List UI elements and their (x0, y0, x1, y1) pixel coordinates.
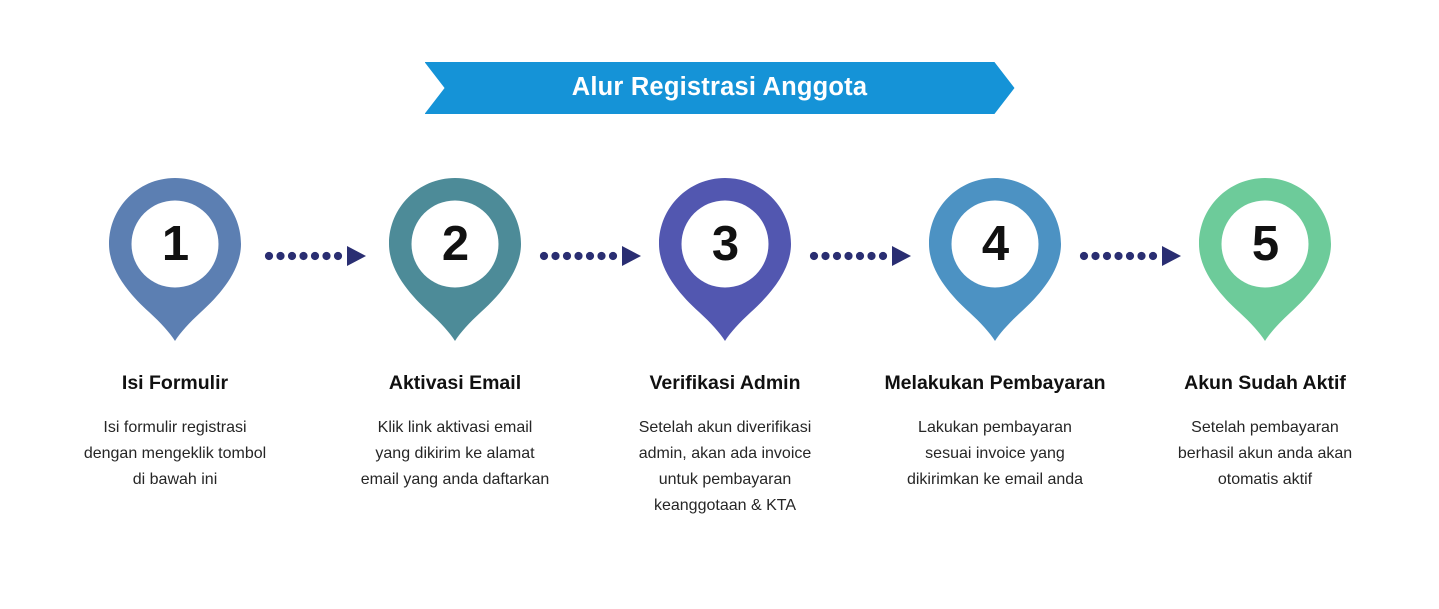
step-description-5: Setelah pembayaran berhasil akun anda ak… (1135, 415, 1395, 493)
connector-arrow-1-to-2 (263, 244, 367, 268)
step-flow-row: 12345 (0, 178, 1439, 353)
step-pin-1: 1 (109, 178, 241, 342)
step-title-2: Aktivasi Email (320, 372, 590, 394)
page-title: Alur Registrasi Anggota (572, 75, 868, 102)
step-caption-1: Isi FormulirIsi formulir registrasi deng… (40, 372, 310, 493)
step-pin-5: 5 (1199, 178, 1331, 342)
step-title-3: Verifikasi Admin (595, 372, 855, 394)
step-description-2: Klik link aktivasi email yang dikirim ke… (320, 415, 590, 493)
connector-arrow-3-to-4 (808, 244, 912, 268)
step-description-3: Setelah akun diverifikasi admin, akan ad… (595, 415, 855, 519)
step-caption-4: Melakukan PembayaranLakukan pembayaran s… (845, 372, 1145, 493)
step-pin-4: 4 (929, 178, 1061, 342)
step-title-1: Isi Formulir (40, 372, 310, 394)
step-pin-2: 2 (389, 178, 521, 342)
step-description-4: Lakukan pembayaran sesuai invoice yang d… (845, 415, 1145, 493)
step-number-2: 2 (389, 178, 521, 310)
flow-title-banner: Alur Registrasi Anggota (425, 62, 1015, 114)
step-number-5: 5 (1199, 178, 1331, 310)
step-caption-5: Akun Sudah AktifSetelah pembayaran berha… (1135, 372, 1395, 493)
step-captions-row: Isi FormulirIsi formulir registrasi deng… (0, 372, 1439, 572)
step-title-5: Akun Sudah Aktif (1135, 372, 1395, 394)
step-pin-3: 3 (659, 178, 791, 342)
step-caption-2: Aktivasi EmailKlik link aktivasi email y… (320, 372, 590, 493)
banner-container: Alur Registrasi Anggota (0, 62, 1439, 114)
step-description-1: Isi formulir registrasi dengan mengeklik… (40, 415, 310, 493)
step-caption-3: Verifikasi AdminSetelah akun diverifikas… (595, 372, 855, 519)
step-number-1: 1 (109, 178, 241, 310)
connector-arrow-4-to-5 (1078, 244, 1182, 268)
connector-arrow-2-to-3 (538, 244, 642, 268)
step-number-3: 3 (659, 178, 791, 310)
step-number-4: 4 (929, 178, 1061, 310)
step-title-4: Melakukan Pembayaran (845, 372, 1145, 394)
